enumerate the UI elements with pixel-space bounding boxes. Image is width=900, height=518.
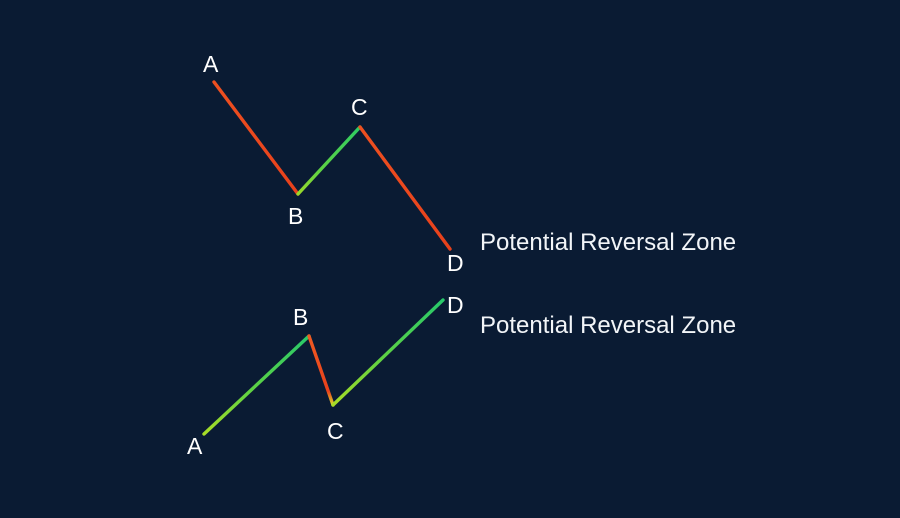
bullish-point-label-d: D (447, 294, 464, 317)
bearish-leg-ab (214, 82, 298, 194)
bearish-leg-cd (360, 127, 450, 249)
bearish-potential-reversal-zone-label: Potential Reversal Zone (480, 231, 736, 255)
bullish-point-label-a: A (187, 435, 202, 458)
bearish-point-label-b: B (288, 205, 303, 228)
bullish-point-label-c: C (327, 420, 344, 443)
bearish-pattern-group (214, 82, 450, 249)
bearish-leg-bc (298, 127, 360, 194)
bearish-point-label-d: D (447, 252, 464, 275)
bearish-point-label-c: C (351, 96, 368, 119)
bullish-leg-ab (204, 336, 309, 434)
bullish-leg-cd (333, 300, 443, 405)
diagram-canvas: A B C D Potential Reversal Zone A B C D … (0, 0, 900, 518)
bullish-point-label-b: B (293, 306, 308, 329)
bullish-leg-bc (309, 336, 333, 405)
bearish-point-label-a: A (203, 53, 218, 76)
bullish-potential-reversal-zone-label: Potential Reversal Zone (480, 314, 736, 338)
bullish-pattern-group (204, 300, 443, 434)
